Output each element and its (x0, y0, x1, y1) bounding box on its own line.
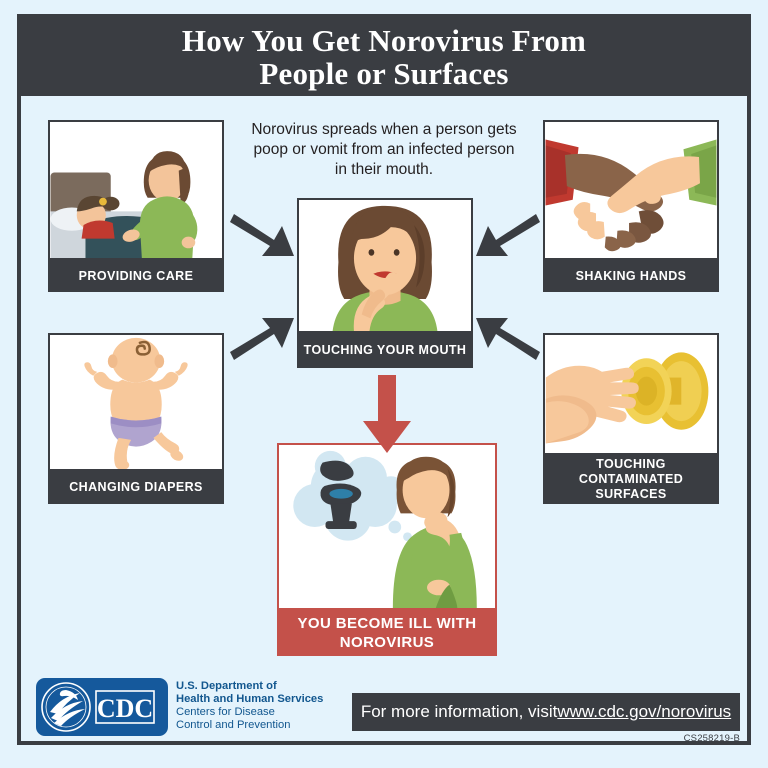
cdc-logo: CDC (36, 678, 168, 736)
infographic-poster: How You Get Norovirus From People or Sur… (0, 0, 768, 768)
providing-care-label: PROVIDING CARE (48, 260, 224, 292)
intro-text: Norovirus spreads when a person gets poo… (224, 120, 544, 180)
touching-surfaces-illustration (543, 333, 719, 455)
arrow-up-right-icon (230, 310, 300, 366)
agency-line-4: Control and Prevention (176, 719, 346, 732)
page-title: How You Get Norovirus From People or Sur… (182, 24, 586, 90)
shaking-hands-illustration (543, 120, 719, 260)
providing-care-illustration (48, 120, 224, 260)
become-ill-label: YOU BECOME ILL WITH NOROVIRUS (277, 610, 497, 656)
changing-diapers-illustration (48, 333, 224, 471)
card-become-ill[interactable]: YOU BECOME ILL WITH NOROVIRUS (277, 443, 497, 656)
norovirus-url-link[interactable]: www.cdc.gov/norovirus (557, 702, 731, 722)
cdc-logo-text: CDC (97, 694, 153, 723)
card-touching-mouth[interactable]: TOUCHING YOUR MOUTH (297, 198, 473, 368)
card-shaking-hands[interactable]: SHAKING HANDS (543, 120, 719, 292)
card-providing-care[interactable]: PROVIDING CARE (48, 120, 224, 292)
changing-diapers-label: CHANGING DIAPERS (48, 471, 224, 504)
agency-line-1: U.S. Department of (176, 680, 346, 693)
poster-title-bar: How You Get Norovirus From People or Sur… (21, 18, 747, 96)
arrow-up-left-icon (470, 310, 540, 366)
touching-mouth-label: TOUCHING YOUR MOUTH (297, 333, 473, 368)
arrow-down-left-icon (470, 208, 540, 264)
card-changing-diapers[interactable]: CHANGING DIAPERS (48, 333, 224, 504)
cs-code: CS258219-B (684, 733, 740, 744)
become-ill-illustration (277, 443, 497, 610)
shaking-hands-label: SHAKING HANDS (543, 260, 719, 292)
touching-mouth-illustration (297, 198, 473, 333)
info-prefix-text: For more information, visit (361, 702, 558, 722)
arrow-down-right-icon (230, 208, 300, 264)
card-touching-surfaces[interactable]: TOUCHING CONTAMINATED SURFACES (543, 333, 719, 504)
agency-line-3: Centers for Disease (176, 706, 346, 719)
agency-line-2: Health and Human Services (176, 693, 346, 706)
arrow-down-red-icon (361, 375, 413, 455)
touching-surfaces-label: TOUCHING CONTAMINATED SURFACES (543, 455, 719, 504)
hhs-agency-text: U.S. Department of Health and Human Serv… (176, 680, 346, 732)
more-information-bar[interactable]: For more information, visit www.cdc.gov/… (352, 693, 740, 731)
